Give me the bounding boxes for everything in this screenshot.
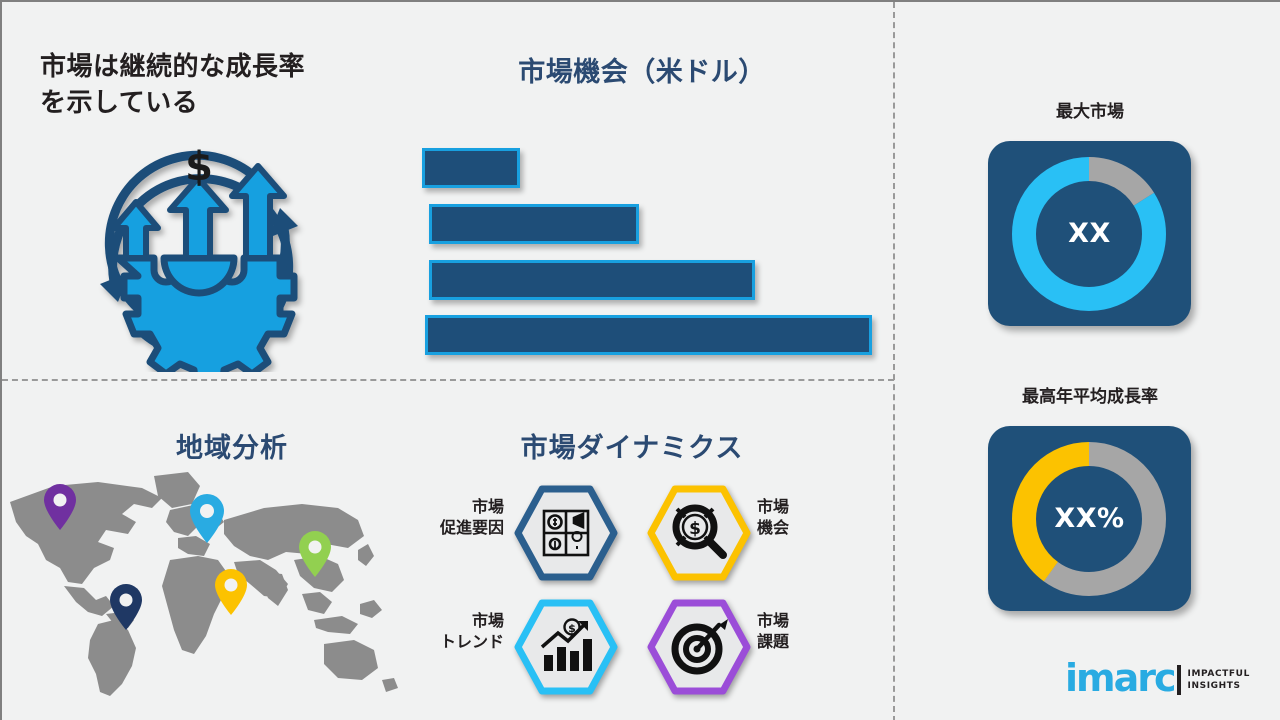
svg-text:$: $ <box>568 622 576 635</box>
dynamics-hex-trends[interactable]: $ <box>514 599 618 695</box>
map-pin-middle-east-africa <box>215 569 247 615</box>
vertical-divider <box>893 2 895 720</box>
svg-text:$: $ <box>689 519 701 539</box>
highest-cagr-value: XX% <box>988 426 1191 611</box>
regional-analysis-title: 地域分析 <box>62 426 402 465</box>
logo-tagline-line2: INSIGHTS <box>1188 681 1241 691</box>
imarc-logo: imarc IMPACTFUL INSIGHTS <box>1065 657 1250 703</box>
largest-market-card: XX <box>988 141 1191 326</box>
infographic-slide: 市場は継続的な成長率 を示している <box>0 0 1280 720</box>
logo-wordmark: imarc <box>1065 659 1175 697</box>
horizontal-divider <box>2 379 894 381</box>
dynamics-hex-opportunities[interactable]: $ <box>647 485 751 581</box>
bar-4 <box>425 315 872 355</box>
growth-cycle-gear-icon: $ <box>74 132 324 372</box>
world-map <box>2 464 402 704</box>
dynamics-hex-challenges[interactable] <box>647 599 751 695</box>
logo-divider <box>1177 665 1181 695</box>
dollar-symbol: $ <box>185 144 213 190</box>
largest-market-title: 最大市場 <box>960 97 1220 122</box>
map-pin-europe <box>190 494 224 543</box>
bar-1 <box>422 148 520 188</box>
market-opportunity-bar-chart <box>422 148 882 353</box>
dynamics-label-trends: 市場 トレンド <box>408 610 504 652</box>
logo-tagline: IMPACTFUL INSIGHTS <box>1188 668 1250 692</box>
market-dynamics-title: 市場ダイナミクス <box>402 426 862 465</box>
logo-tagline-line1: IMPACTFUL <box>1188 669 1250 679</box>
growth-statement-title: 市場は継続的な成長率 を示している <box>40 50 390 122</box>
market-opportunity-title: 市場機会（米ドル） <box>422 50 862 89</box>
highest-cagr-title: 最高年平均成長率 <box>960 382 1220 407</box>
dynamics-label-challenges: 市場 課題 <box>757 610 853 652</box>
highest-cagr-card: XX% <box>988 426 1191 611</box>
dynamics-label-opportunities: 市場 機会 <box>757 496 853 538</box>
largest-market-value: XX <box>988 141 1191 326</box>
bar-2 <box>429 204 639 244</box>
bar-3 <box>429 260 755 300</box>
dynamics-label-drivers: 市場 促進要因 <box>408 496 504 538</box>
dynamics-hex-drivers[interactable] <box>514 485 618 581</box>
